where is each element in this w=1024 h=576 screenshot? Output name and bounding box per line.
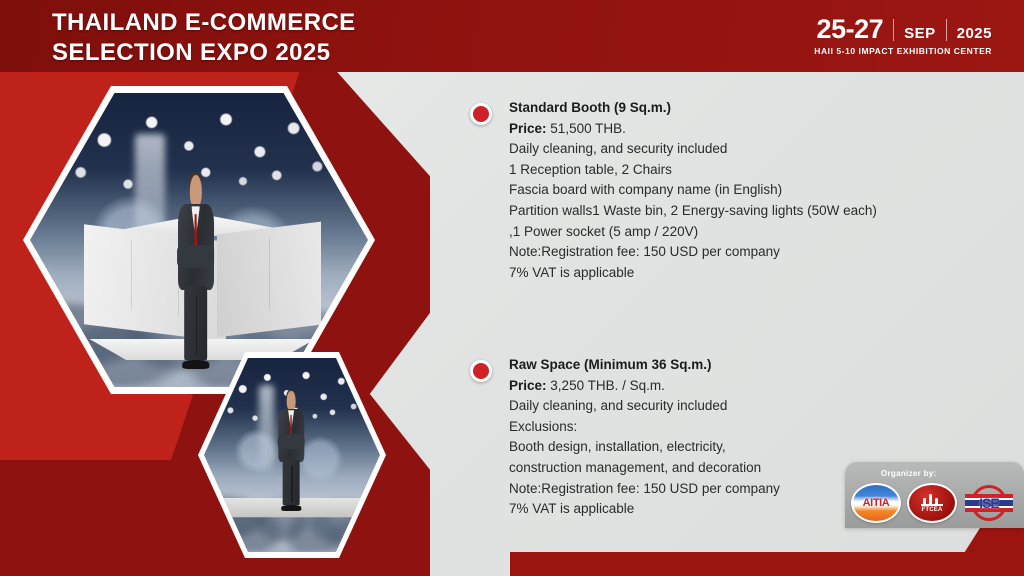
price-value: 51,500 THB. (550, 121, 626, 136)
businessman-figure-2 (274, 391, 307, 511)
organizer-label: Organizer by: (881, 469, 936, 478)
package-title: Standard Booth (9 Sq.m.) (509, 98, 950, 119)
event-date-year: 2025 (957, 25, 992, 42)
package-block-standard-booth: Standard Booth (9 Sq.m.) Price: 51,500 T… (470, 98, 950, 283)
package-detail: Note:Registration fee: 150 USD per compa… (509, 242, 950, 263)
price-value: 3,250 THB. / Sq.m. (550, 378, 665, 393)
package-detail: Daily cleaning, and security included (509, 396, 950, 417)
package-detail: 1 Reception table, 2 Chairs (509, 160, 950, 181)
event-title-line1: THAILAND E-COMMERCE (52, 8, 356, 38)
price-label: Price: (509, 378, 547, 393)
organizer-card: Organizer by: AITIA FTCEA ISE (845, 462, 1024, 528)
package-detail: Partition walls1 Waste bin, 2 Energy-sav… (509, 201, 950, 222)
event-title: THAILAND E-COMMERCE SELECTION EXPO 2025 (52, 8, 356, 68)
organizer-logos: AITIA FTCEA ISE (851, 483, 1015, 523)
package-detail: 7% VAT is applicable (509, 263, 950, 284)
poster-canvas: THAILAND E-COMMERCE SELECTION EXPO 2025 … (0, 0, 1024, 576)
package-price-row: Price: 3,250 THB. / Sq.m. (509, 376, 950, 397)
red-dot-icon (470, 360, 492, 382)
package-detail: ,1 Power socket (5 amp / 220V) (509, 222, 950, 243)
event-title-line2: SELECTION EXPO 2025 (52, 38, 356, 68)
aitia-logo-text: AITIA (863, 497, 890, 509)
package-detail: Booth design, installation, electricity, (509, 437, 950, 458)
package-standard-booth-lines: Standard Booth (9 Sq.m.) Price: 51,500 T… (509, 98, 950, 283)
ise-logo-text: ISE (979, 495, 999, 511)
businessman-figure (172, 175, 219, 369)
aitia-logo: AITIA (851, 483, 901, 523)
price-label: Price: (509, 121, 547, 136)
red-dot-icon (470, 103, 492, 125)
package-detail: Daily cleaning, and security included (509, 139, 950, 160)
ftcea-logo: FTCEA (907, 483, 957, 523)
ftcea-arch-icon (921, 493, 943, 506)
package-detail: Fascia board with company name (in Engli… (509, 180, 950, 201)
package-price-row: Price: 51,500 THB. (509, 119, 950, 140)
booth-side-wall (217, 221, 321, 337)
package-title: Raw Space (Minimum 36 Sq.m.) (509, 355, 950, 376)
raw-space-photo (204, 358, 380, 552)
ise-logo: ISE (963, 483, 1015, 523)
package-detail: Exclusions: (509, 417, 950, 438)
backdrop-pillar-2 (259, 385, 275, 474)
ftcea-logo-text: FTCEA (922, 507, 943, 513)
